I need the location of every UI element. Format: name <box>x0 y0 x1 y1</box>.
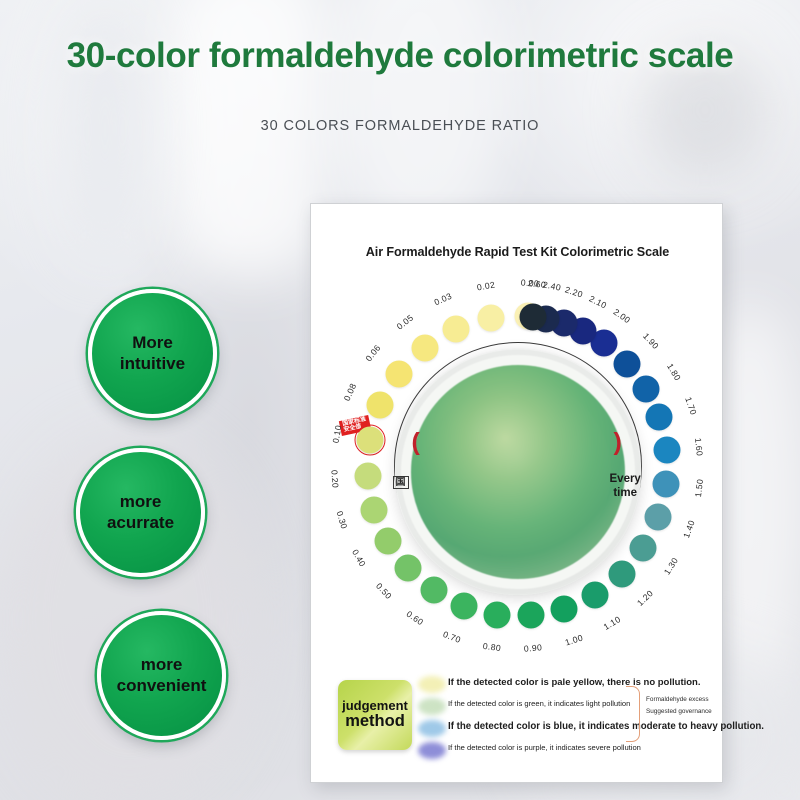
legend-color-swatch <box>418 698 446 715</box>
swatch-value-label: 1.00 <box>564 632 585 647</box>
swatch-value-label: 1.50 <box>693 479 705 498</box>
color-swatch[interactable] <box>478 305 505 332</box>
swatch-value-label: 0.70 <box>442 629 463 645</box>
swatch-value-label: 0.80 <box>482 641 502 653</box>
swatch-value-label: 1.60 <box>694 437 706 456</box>
color-swatch[interactable] <box>356 426 383 453</box>
color-swatch[interactable] <box>450 593 477 620</box>
decorative-paren-right: ) <box>614 428 622 457</box>
legend-row: If the detected color is pale yellow, th… <box>418 674 708 696</box>
swatch-value-label: 0.08 <box>342 381 359 402</box>
badge-more-convenient[interactable]: more convenient <box>97 611 226 740</box>
swatch-value-label: 2.00 <box>612 307 633 326</box>
swatch-value-label: 0.03 <box>433 291 454 308</box>
governance-note-line2: Suggested governance <box>646 706 712 718</box>
color-swatch[interactable] <box>412 334 439 361</box>
color-swatch[interactable] <box>581 581 608 608</box>
color-swatch[interactable] <box>608 560 635 587</box>
legend-row: If the detected color is blue, it indica… <box>418 718 708 740</box>
judgement-method-box: judgement method <box>338 680 412 750</box>
color-swatch[interactable] <box>633 375 660 402</box>
brand-mark-icon: 国 <box>393 476 409 489</box>
legend-text: If the detected color is blue, it indica… <box>448 721 764 732</box>
swatch-value-label: 0.20 <box>329 469 340 488</box>
swatch-value-label: 0.30 <box>335 509 350 529</box>
swatch-value-label: 1.10 <box>601 614 622 632</box>
swatch-value-label: 0.02 <box>476 279 496 292</box>
legend-color-swatch <box>418 720 446 737</box>
judgement-box-line1: judgement <box>342 699 408 713</box>
swatch-value-label: 1.80 <box>665 361 683 382</box>
swatch-value-label: 1.30 <box>662 555 680 576</box>
color-swatch[interactable] <box>361 496 388 523</box>
badge-label: more acurrate <box>80 492 201 532</box>
card-title: Air Formaldehyde Rapid Test Kit Colorime… <box>311 245 724 259</box>
governance-note-line1: Formaldehyde excess <box>646 694 712 706</box>
color-swatch[interactable] <box>520 303 547 330</box>
badge-label: more convenient <box>101 655 222 695</box>
page-subtitle: 30 COLORS FORMALDEHYDE RATIO <box>0 118 800 134</box>
legend-color-swatch <box>418 742 446 759</box>
swatch-value-label: 1.20 <box>635 588 655 608</box>
color-swatch[interactable] <box>645 504 672 531</box>
judgement-box-line2: method <box>345 713 405 731</box>
color-swatch[interactable] <box>614 350 641 377</box>
swatch-value-label: 0.10 <box>331 424 344 444</box>
swatch-value-label: 0.60 <box>405 608 426 627</box>
color-swatch[interactable] <box>517 602 544 629</box>
legend-color-swatch <box>418 676 446 693</box>
color-swatch[interactable] <box>630 534 657 561</box>
legend-text: If the detected color is green, it indic… <box>448 699 630 708</box>
judgement-legend: judgement method If the detected color i… <box>338 674 708 764</box>
swatch-value-label: 2.60 <box>527 278 546 290</box>
swatch-value-label: 0.90 <box>524 643 543 655</box>
page-root: 30-color formaldehyde colorimetric scale… <box>0 0 800 800</box>
color-swatch[interactable] <box>443 315 470 342</box>
swatch-value-label: 2.10 <box>587 293 608 310</box>
every-time-label: Every time <box>610 472 641 501</box>
swatch-value-label: 0.40 <box>350 547 368 568</box>
color-swatch[interactable] <box>653 437 680 464</box>
product-card: Air Formaldehyde Rapid Test Kit Colorime… <box>310 203 723 783</box>
color-swatch[interactable] <box>646 404 673 431</box>
brace-icon <box>626 686 640 742</box>
color-swatch[interactable] <box>653 471 680 498</box>
badge-more-intuitive[interactable]: More intuitive <box>88 289 217 418</box>
swatch-value-label: 0.05 <box>395 312 416 331</box>
swatch-value-label: 2.20 <box>564 284 585 299</box>
badge-more-accurate[interactable]: more acurrate <box>76 448 205 577</box>
color-swatch[interactable] <box>367 391 394 418</box>
color-swatch[interactable] <box>550 595 577 622</box>
sample-dish-photo <box>411 365 625 579</box>
governance-note: Formaldehyde excess Suggested governance <box>646 694 712 718</box>
legend-text: If the detected color is pale yellow, th… <box>448 677 701 688</box>
swatch-value-label: 1.90 <box>641 331 661 351</box>
swatch-value-label: 0.50 <box>374 581 394 601</box>
colorimetric-wheel: ( ) 国 Every time 国家标准 安全值 0.000.020.030.… <box>311 262 724 682</box>
decorative-paren-left: ( <box>412 428 420 457</box>
color-swatch[interactable] <box>394 555 421 582</box>
color-swatch[interactable] <box>354 463 381 490</box>
color-swatch[interactable] <box>483 601 510 628</box>
color-swatch[interactable] <box>386 360 413 387</box>
color-swatch[interactable] <box>374 528 401 555</box>
legend-text: If the detected color is purple, it indi… <box>448 743 641 752</box>
swatch-value-label: 1.70 <box>683 396 698 417</box>
swatch-value-label: 1.40 <box>682 518 698 539</box>
page-title: 30-color formaldehyde colorimetric scale <box>0 36 800 76</box>
color-swatch[interactable] <box>420 577 447 604</box>
badge-label: More intuitive <box>92 333 213 373</box>
legend-row: If the detected color is purple, it indi… <box>418 740 708 762</box>
swatch-value-label: 0.06 <box>364 343 383 364</box>
